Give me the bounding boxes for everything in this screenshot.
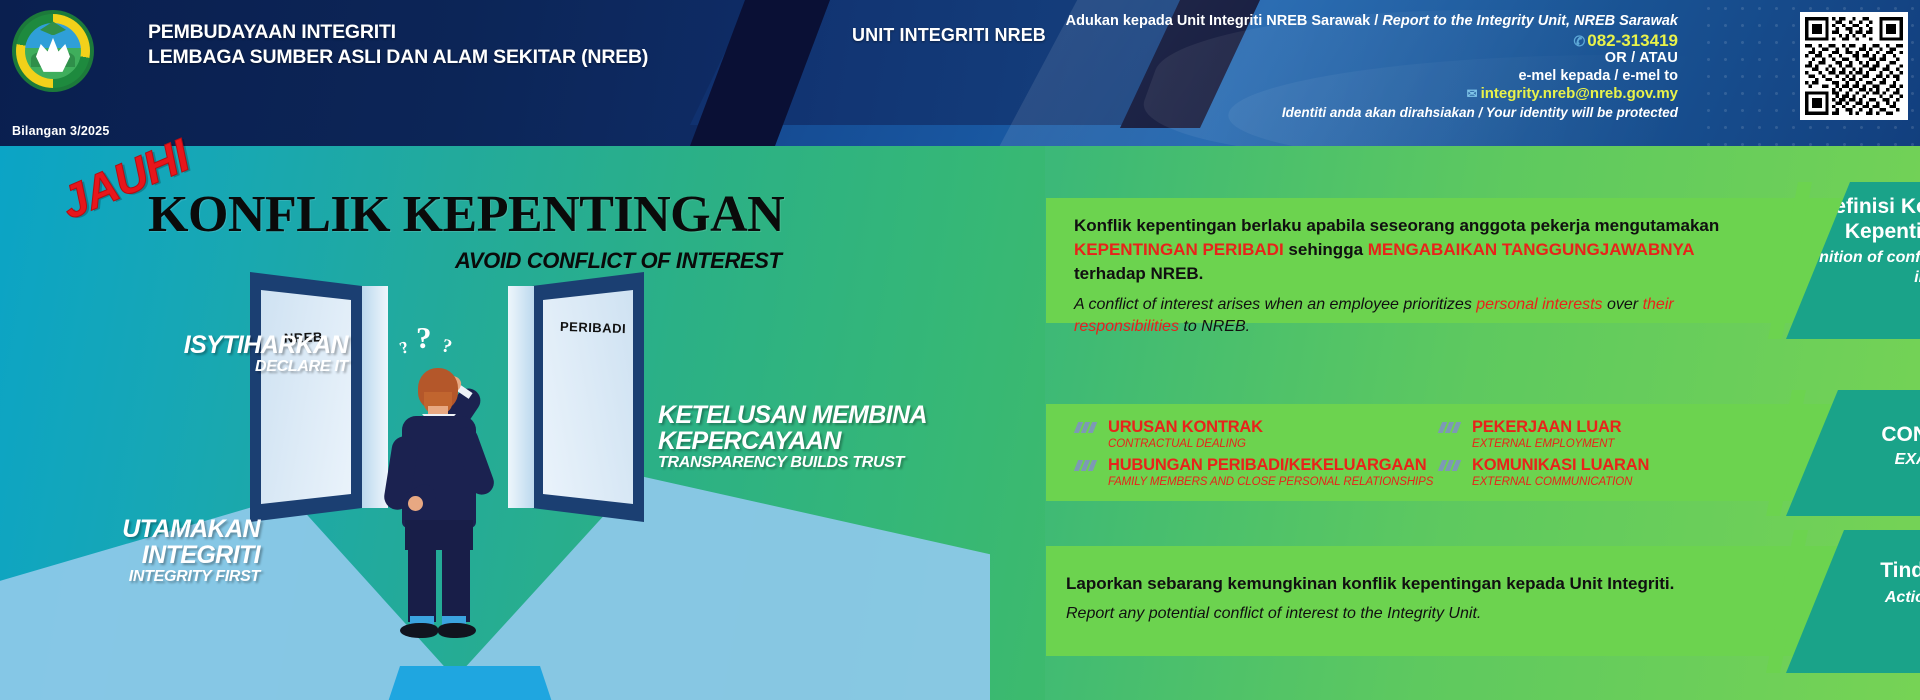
- definition-my-red2: MENGABAIKAN TANGGUNGJAWABNYA: [1368, 240, 1694, 259]
- envelope-icon: ✉: [1467, 86, 1478, 101]
- door-nreb: NREB: [250, 272, 362, 522]
- identity-note: Identiti anda akan dirahsiakan / Your id…: [1038, 104, 1678, 122]
- header-title: PEMBUDAYAAN INTEGRITI LEMBAGA SUMBER ASL…: [148, 20, 648, 70]
- definition-text-my: Konflik kepentingan berlaku apabila sese…: [1074, 214, 1734, 286]
- example-item-my: URUSAN KONTRAK: [1108, 418, 1466, 437]
- door-label-peribadi: PERIBADI: [560, 319, 627, 336]
- definition-en-part1: A conflict of interest arises when an em…: [1074, 296, 1476, 313]
- example-item-my: HUBUNGAN PERIBADI/KEKELUARGAAN: [1108, 456, 1466, 475]
- definition-text: Konflik kepentingan berlaku apabila sese…: [1074, 214, 1734, 338]
- example-item: PEKERJAAN LUAR EXTERNAL EMPLOYMENT: [1440, 418, 1770, 452]
- definition-my-part3: terhadap NREB.: [1074, 264, 1203, 283]
- definition-my-red1: KEPENTINGAN PERIBADI: [1074, 240, 1284, 259]
- example-column-right: PEKERJAAN LUAR EXTERNAL EMPLOYMENT KOMUN…: [1440, 418, 1770, 494]
- tagline-declare-en: DECLARE IT: [108, 358, 348, 376]
- chevron-bullet-icon: [1440, 422, 1464, 433]
- chevron-bullet-icon: [1076, 460, 1100, 471]
- tagline-integrity: UTAMAKAN INTEGRITI INTEGRITY FIRST: [30, 516, 260, 586]
- email-address: integrity.nreb@nreb.gov.my: [1481, 85, 1678, 102]
- tagline-declare-my: ISYTIHARKAN: [108, 332, 348, 358]
- phone-icon: ✆: [1574, 33, 1586, 49]
- definition-en-red1: personal interests: [1476, 296, 1602, 313]
- confused-man-illustration: ???: [372, 330, 512, 590]
- tagline-transparency: KETELUSAN MEMBINA KEPERCAYAAN TRANSPAREN…: [658, 402, 948, 472]
- email-label: e-mel kepada / e-mel to: [1038, 68, 1678, 86]
- header-title-line1: PEMBUDAYAAN INTEGRITI: [148, 20, 648, 45]
- example-item-en: CONTRACTUAL DEALING: [1108, 437, 1466, 452]
- nreb-crest-logo: [12, 10, 94, 92]
- definition-en-part2: over: [1603, 296, 1643, 313]
- example-item-my: KOMUNIKASI LUARAN: [1472, 456, 1770, 475]
- hero-subtitle: AVOID CONFLICT OF INTEREST: [455, 248, 782, 274]
- action-text-en: Report any potential conflict of interes…: [1066, 603, 1746, 625]
- unit-title: UNIT INTEGRITI NREB: [852, 25, 1046, 46]
- contact-block: Adukan kepada Unit Integriti NREB Sarawa…: [1038, 13, 1678, 121]
- example-banner-my: CONTOH: [1881, 422, 1920, 447]
- example-column-left: URUSAN KONTRAK CONTRACTUAL DEALING HUBUN…: [1076, 418, 1466, 494]
- example-item: KOMUNIKASI LUARAN EXTERNAL COMMUNICATION: [1440, 456, 1770, 490]
- tagline-integrity-my: UTAMAKAN INTEGRITI: [30, 516, 260, 568]
- action-banner-en: Action step: [1880, 588, 1920, 608]
- definition-my-part2: sehingga: [1284, 240, 1368, 259]
- report-label-my: Adukan kepada Unit Integriti NREB Sarawa…: [1066, 13, 1371, 29]
- chevron-bullet-icon: [1440, 460, 1464, 471]
- action-banner-my: Tindakan: [1880, 558, 1920, 583]
- example-item-en: EXTERNAL COMMUNICATION: [1472, 475, 1770, 490]
- light-beam-center: [380, 666, 560, 700]
- example-item-my: PEKERJAAN LUAR: [1472, 418, 1770, 437]
- action-banner-text: Tindakan Action step: [1880, 558, 1920, 608]
- phone-number: 082-313419: [1587, 31, 1678, 50]
- action-text: Laporkan sebarang kemungkinan konflik ke…: [1066, 572, 1746, 625]
- definition-text-en: A conflict of interest arises when an em…: [1074, 294, 1734, 338]
- example-banner-text: CONTOH EXAMPLE: [1881, 422, 1920, 470]
- action-text-my: Laporkan sebarang kemungkinan konflik ke…: [1066, 572, 1746, 596]
- report-separator: /: [1374, 13, 1378, 29]
- email-line[interactable]: ✉integrity.nreb@nreb.gov.my: [1038, 85, 1678, 103]
- page-header: PEMBUDAYAAN INTEGRITI LEMBAGA SUMBER ASL…: [0, 0, 1920, 146]
- qr-code[interactable]: [1800, 12, 1908, 120]
- tagline-declare: ISYTIHARKAN DECLARE IT: [108, 332, 348, 376]
- phone-line[interactable]: ✆082-313419: [1038, 32, 1678, 51]
- example-banner-en: EXAMPLE: [1881, 450, 1920, 470]
- example-item-en: FAMILY MEMBERS AND CLOSE PERSONAL RELATI…: [1108, 475, 1466, 490]
- door-panel: [261, 290, 351, 504]
- issue-number: Bilangan 3/2025: [12, 124, 110, 138]
- tagline-transparency-my: KETELUSAN MEMBINA KEPERCAYAAN: [658, 402, 948, 454]
- or-atau-label: OR / ATAU: [1038, 50, 1678, 68]
- header-title-line2: LEMBAGA SUMBER ASLI DAN ALAM SEKITAR (NR…: [148, 45, 648, 70]
- definition-en-part3: to NREB.: [1179, 318, 1250, 335]
- tagline-transparency-en: TRANSPARENCY BUILDS TRUST: [658, 454, 948, 472]
- definition-my-part1: Konflik kepentingan berlaku apabila sese…: [1074, 216, 1719, 235]
- report-line: Adukan kepada Unit Integriti NREB Sarawa…: [1038, 13, 1678, 31]
- example-item: HUBUNGAN PERIBADI/KEKELUARGAAN FAMILY ME…: [1076, 456, 1466, 490]
- report-label-en: Report to the Integrity Unit, NREB Saraw…: [1382, 13, 1678, 29]
- infographic-poster: PEMBUDAYAAN INTEGRITI LEMBAGA SUMBER ASL…: [0, 0, 1920, 700]
- example-item: URUSAN KONTRAK CONTRACTUAL DEALING: [1076, 418, 1466, 452]
- hero-title: KONFLIK KEPENTINGAN: [148, 188, 784, 242]
- door-peribadi: PERIBADI: [532, 272, 644, 522]
- tagline-integrity-en: INTEGRITY FIRST: [30, 568, 260, 586]
- chevron-bullet-icon: [1076, 422, 1100, 433]
- example-item-en: EXTERNAL EMPLOYMENT: [1472, 437, 1770, 452]
